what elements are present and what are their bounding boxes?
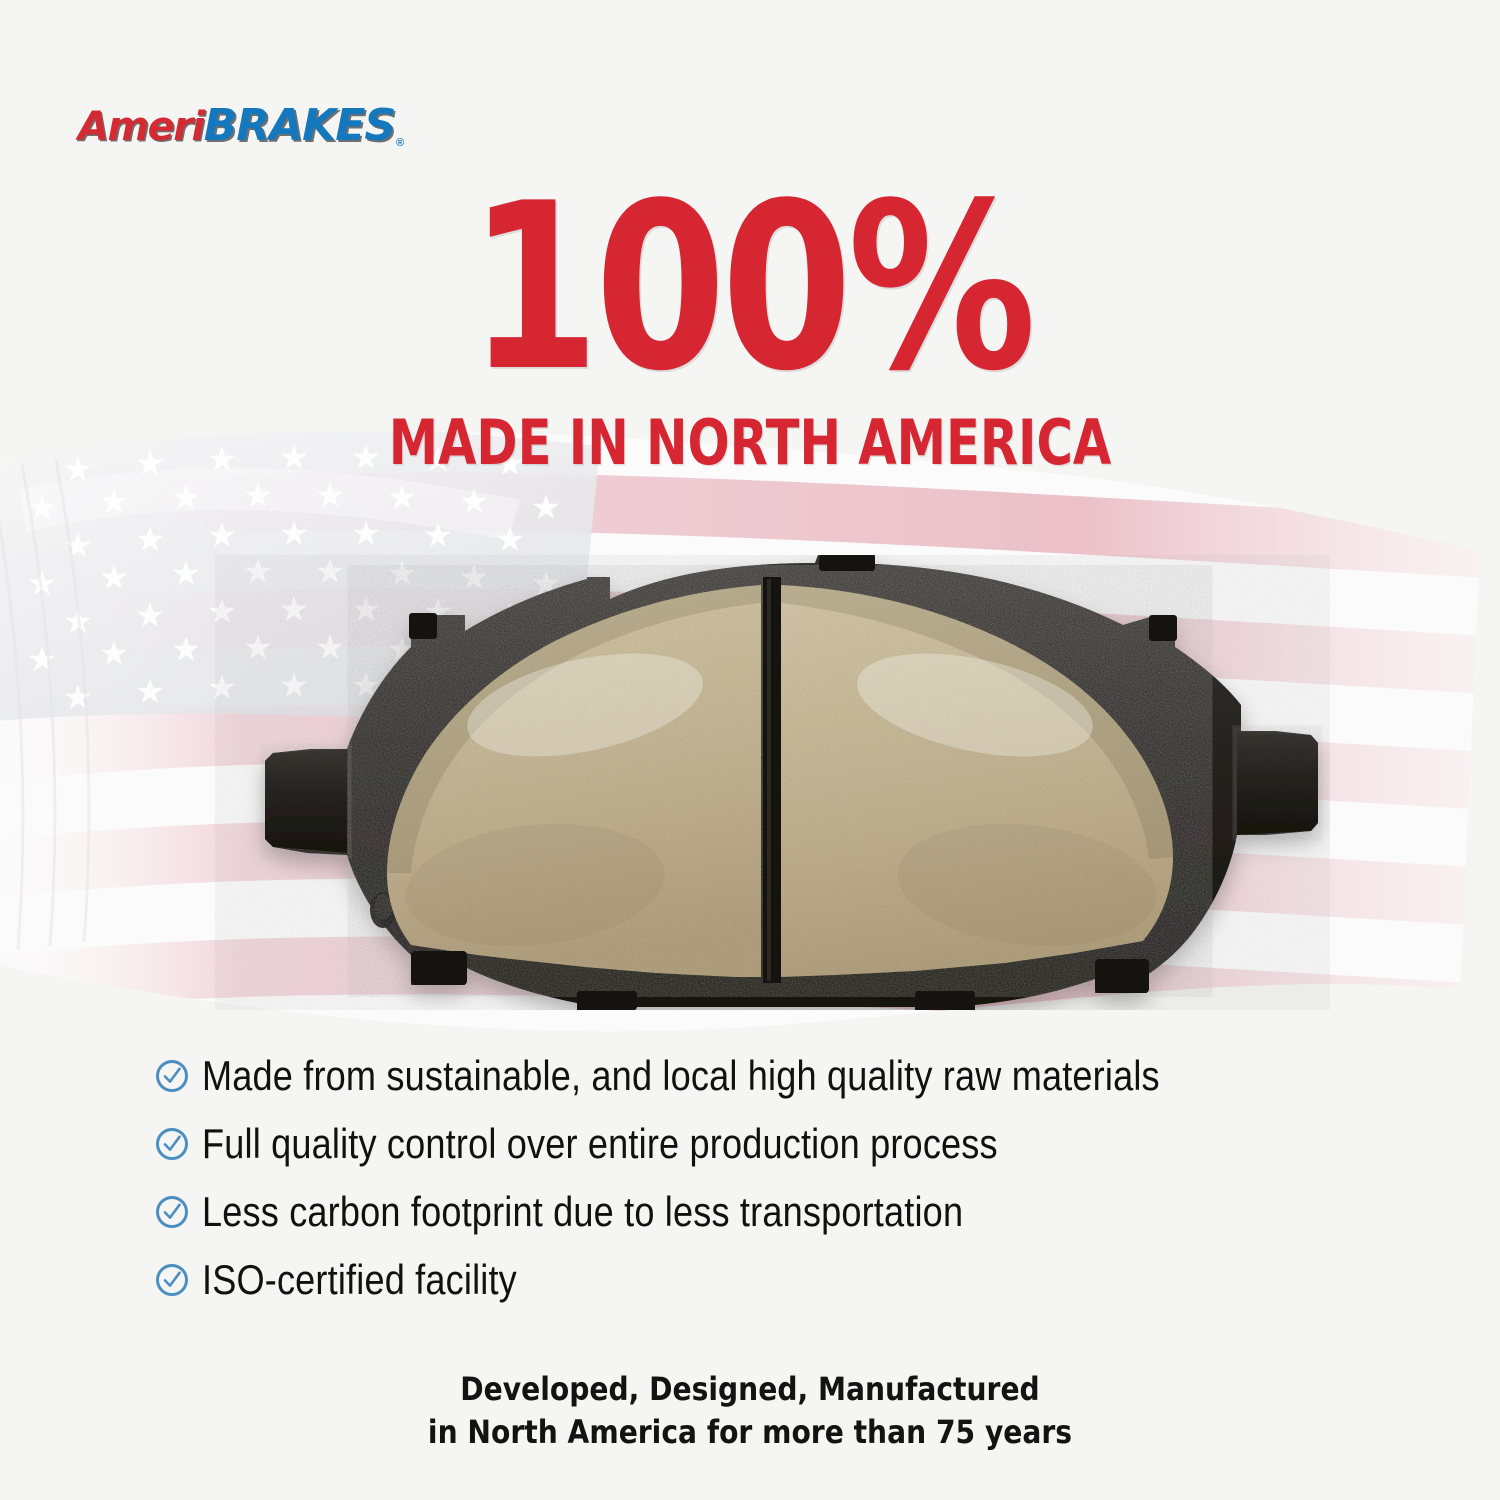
logo-text-ameri: Ameri xyxy=(78,104,204,150)
headline-subtitle: MADE IN NORTH AMERICA xyxy=(150,406,1350,479)
footer-line-2: in North America for more than 75 years xyxy=(90,1411,1410,1454)
headline-block: 100% MADE IN NORTH AMERICA xyxy=(0,195,1500,479)
headline-percent: 100% xyxy=(135,195,1365,384)
footer-line-1: Developed, Designed, Manufactured xyxy=(90,1368,1410,1411)
check-circle-icon xyxy=(150,1122,194,1166)
list-item-label: Made from sustainable, and local high qu… xyxy=(202,1052,1160,1100)
logo-text-brakes: BRAKES xyxy=(204,100,395,151)
footer-block: Developed, Designed, Manufactured in Nor… xyxy=(0,1368,1500,1454)
list-item-label: Less carbon footprint due to less transp… xyxy=(202,1188,963,1236)
registered-trademark-icon: ® xyxy=(396,137,403,151)
list-item: Less carbon footprint due to less transp… xyxy=(150,1178,1400,1246)
list-item-label: ISO-certified facility xyxy=(202,1256,517,1304)
list-item-label: Full quality control over entire product… xyxy=(202,1120,998,1168)
list-item: ISO-certified facility xyxy=(150,1246,1400,1314)
check-circle-icon xyxy=(150,1054,194,1098)
list-item: Full quality control over entire product… xyxy=(150,1110,1400,1178)
check-circle-icon xyxy=(150,1258,194,1302)
feature-list: Made from sustainable, and local high qu… xyxy=(150,1042,1400,1314)
list-item: Made from sustainable, and local high qu… xyxy=(150,1042,1400,1110)
brand-logo[interactable]: Ameri BRAKES ® xyxy=(78,100,403,151)
check-circle-icon xyxy=(150,1190,194,1234)
brake-pad-product-image xyxy=(215,555,1330,1010)
